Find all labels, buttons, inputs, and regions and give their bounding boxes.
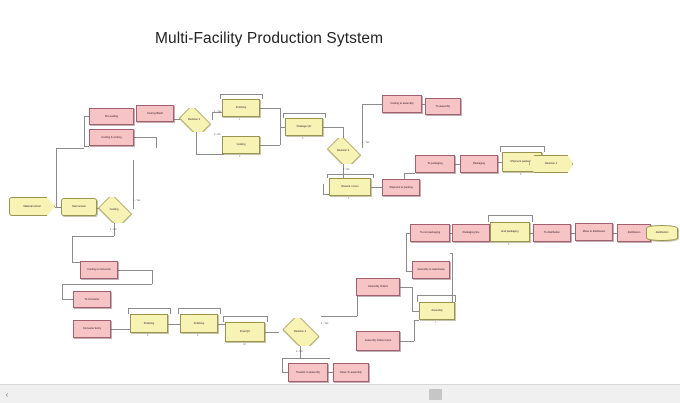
node-label: Decision 4 [294,330,306,333]
node-label: Cooling to Converter [87,268,111,271]
node-label: Cooling & cooling [101,136,121,139]
node-label: Assembly Orders Input [365,339,391,342]
edge-label-2: 1 - Yes [362,141,369,144]
flowchart-node-n37[interactable]: Decision 4 [279,318,321,346]
flowchart-node-n25[interactable]: Assembly [419,302,455,320]
flowchart-node-n39[interactable]: Move To assembly [333,363,369,382]
flowchart-node-n12[interactable]: Shipment to packing [382,179,420,196]
node-label: Decision 3 [337,149,349,152]
flowchart-node-n31[interactable]: Cooling to Converter [80,261,118,279]
flowchart-node-n36[interactable]: Final QC [225,322,265,342]
node-label: To packaging [427,162,442,165]
edge-label-4: 1 - Yes [133,199,140,202]
node-label: Package QC [297,125,312,128]
flowchart-node-n8[interactable]: Decision 3 [324,138,362,164]
flowchart-node-n16[interactable]: Decision 1 [529,155,573,173]
node-label: To assembly [436,105,450,108]
flowchart-node-n29[interactable]: Start screen [61,198,97,216]
flowchart-node-n1[interactable]: Pre-cooling [89,108,134,125]
flowchart-node-n5[interactable]: Finishing [222,99,260,117]
node-label: Converter Entry [83,327,101,330]
node-label: Rework / rerun [341,185,358,188]
node-label: distribution [628,231,641,234]
scrollbar-track[interactable] [14,385,680,403]
flowchart-node-n24[interactable]: Assembly to warehouse [412,261,450,279]
edge-label-0: 1 - Yes [214,110,221,113]
node-label: Transfer to assembly [296,371,320,374]
node-label: Assembly Orders [368,285,388,288]
edge-label-6: 1 - Yes [321,322,328,325]
node-label: Final QC [240,330,250,333]
node-label: Decision 2 [188,118,200,121]
node-label: Packaging line [463,231,480,234]
node-label: Cooling Batch [147,112,163,115]
flowchart-node-n21[interactable]: Move to distribution [575,223,613,241]
node-step-number: 5 [520,173,521,176]
edge-label-3: 2 - No [343,168,350,171]
node-step-number: 7 [435,321,436,324]
node-step-number: 9 [197,334,198,337]
scroll-left-arrow-icon[interactable]: ‹ [0,385,14,403]
node-label: distribution [656,231,669,234]
node-step-number: 6 [508,243,509,246]
flowchart-node-n6[interactable]: Cooling [222,136,260,154]
flowchart-node-n26[interactable]: Assembly Orders [356,278,400,296]
flowchart-node-n4[interactable]: Decision 2 [176,108,212,132]
node-step-number: 10 [243,343,246,346]
flowchart-node-n2[interactable]: Cooling & cooling [89,129,134,146]
scrollbar-thumb[interactable] [429,389,442,400]
node-step-number: 1 [239,118,240,121]
flowchart-node-n33[interactable]: Converter Entry [73,320,111,338]
flowchart-node-n11[interactable]: Rework / rerun [329,178,371,196]
flowchart-node-n10[interactable]: To assembly [425,98,461,115]
flowchart-node-n27[interactable]: Assembly Orders Input [356,331,400,351]
edge-label-7: 2 - No [296,350,303,353]
flowchart-node-n3[interactable]: Cooling Batch [136,105,174,122]
node-label: Cooling [237,143,246,146]
diagram-canvas[interactable]: Multi-Facility Production Sytstem [0,0,680,385]
page-title: Multi-Facility Production Sytstem [155,30,383,48]
node-label: Assembly [431,309,442,312]
flowchart-node-n38[interactable]: Transfer to assembly [288,363,328,382]
edge-label-1: 2 - No [214,133,221,136]
flowchart-node-n7[interactable]: Package QC [285,118,323,136]
node-label: Move To assembly [340,371,361,374]
node-label: End packaging [501,230,518,233]
flowchart-node-n20[interactable]: To distribution [533,224,571,242]
flowchart-node-n18[interactable]: Packaging line [452,224,490,242]
flowchart-node-n13[interactable]: To packaging [415,155,455,173]
node-label: Material arrival [23,205,40,208]
node-label: Start screen [72,205,86,208]
flowchart-node-n34[interactable]: Finishing [130,314,168,333]
node-label: To Converter [85,298,100,301]
flowchart-node-n30[interactable]: Cooling [95,197,133,223]
flowchart-node-n14[interactable]: Packaging [460,155,498,173]
node-step-number: 3 [302,137,303,140]
node-step-number: 8 [147,334,148,337]
node-label: Finishing [144,322,154,325]
horizontal-scrollbar[interactable]: ‹ [0,384,680,403]
node-label: Cooling [110,208,119,211]
node-label: Pre-cooling [105,115,118,118]
node-label: Assembly to warehouse [417,268,445,271]
node-label: Shipment to packing [389,186,413,189]
node-label: Cooling to assembly [390,102,413,105]
flowchart-node-n19[interactable]: End packaging [490,222,530,242]
node-label: Move to distribution [583,230,606,233]
flowchart-node-n17[interactable]: To end packaging [410,224,450,242]
flowchart-node-n35[interactable]: Finishing [180,314,218,333]
node-label: Packaging [473,162,485,165]
flowchart-node-n28[interactable]: Material arrival [9,197,55,216]
node-label: Finishing [236,106,246,109]
node-step-number: 2 [239,155,240,158]
node-label: Finishing [194,322,204,325]
node-step-number: 4 [348,197,349,200]
edge-label-5: 2 - No [110,228,117,231]
flowchart-node-n9[interactable]: Cooling to assembly [382,95,422,113]
node-label: Decision 1 [545,162,557,165]
node-label: To end packaging [420,231,440,234]
flowchart-node-n32[interactable]: To Converter [73,291,111,308]
node-label: To distribution [544,231,560,234]
flowchart-node-n23[interactable]: distribution [646,225,678,241]
